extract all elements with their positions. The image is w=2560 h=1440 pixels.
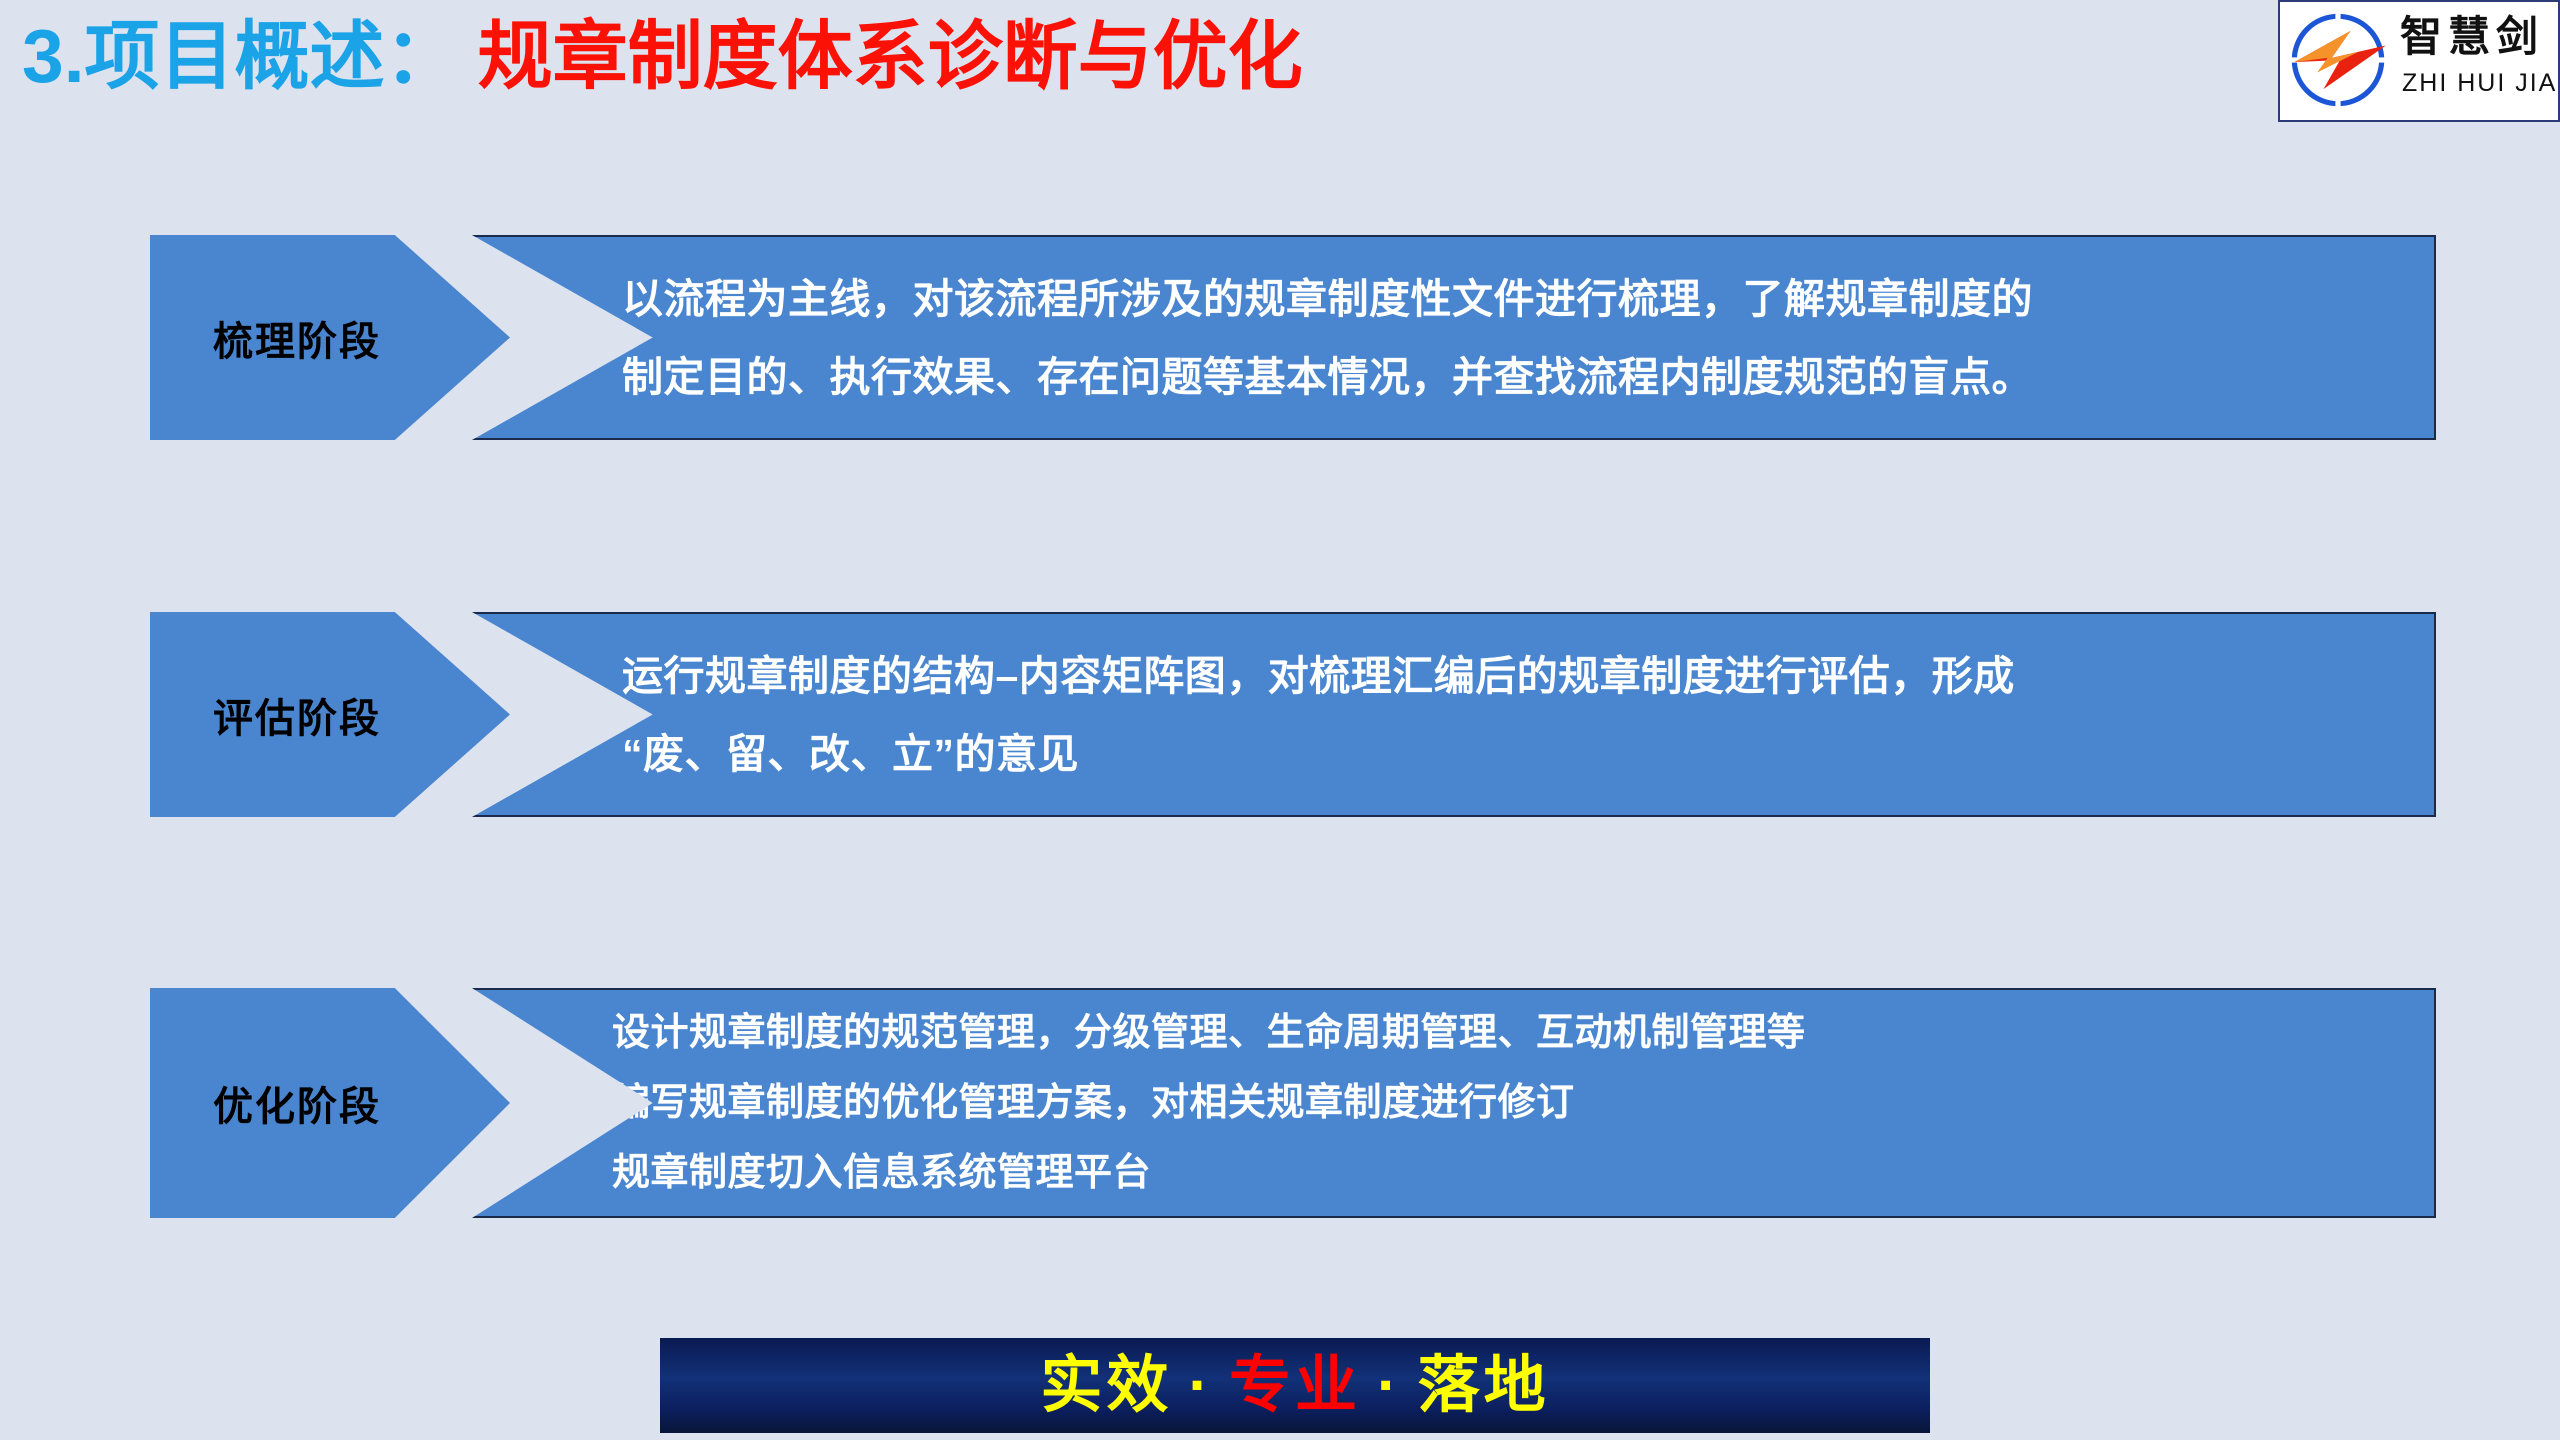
stage-body-line: 规章制度切入信息系统管理平台 [612, 1138, 2410, 1208]
slogan-banner: 实效·专业·落地 [660, 1338, 1930, 1433]
slogan-text: 实效·专业·落地 [1040, 1347, 1549, 1425]
stage-label-shape[interactable]: 优化阶段 [150, 988, 510, 1218]
stage-body-line: 以流程为主线，对该流程所涉及的规章制度性文件进行梳理，了解规章制度的 [622, 260, 2410, 338]
stage-label-text: 梳理阶段 [182, 309, 412, 367]
stage-label-text: 优化阶段 [182, 1074, 412, 1132]
stage-label-text: 评估阶段 [182, 686, 412, 744]
slogan-word-2: 专业 [1229, 1351, 1361, 1420]
stage-content-box[interactable]: 设计规章制度的规范管理，分级管理、生命周期管理、互动机制管理等 编写规章制度的优… [472, 988, 2436, 1218]
stage-label-shape[interactable]: 评估阶段 [150, 612, 510, 817]
stage-row: 优化阶段 设计规章制度的规范管理，分级管理、生命周期管理、互动机制管理等 编写规… [0, 988, 2560, 1218]
stage-label-shape[interactable]: 梳理阶段 [150, 235, 510, 440]
slogan-separator: · [1377, 1351, 1402, 1420]
page-title-main: 规章制度体系诊断与优化 [478, 14, 1303, 98]
slogan-separator: · [1188, 1351, 1213, 1420]
slogan-word-3: 落地 [1418, 1351, 1550, 1420]
slogan-word-1: 实效 [1040, 1351, 1172, 1420]
logo-text-pinyin: ZHI HUI JIAN [2402, 68, 2560, 98]
stage-content-box[interactable]: 运行规章制度的结构–内容矩阵图，对梳理汇编后的规章制度进行评估，形成 “废、留、… [472, 612, 2436, 817]
logo-text-chinese: 智慧剑 [2400, 14, 2544, 62]
stage-body-line: 运行规章制度的结构–内容矩阵图，对梳理汇编后的规章制度进行评估，形成 [622, 637, 2410, 715]
stage-body-line: “废、留、改、立”的意见 [622, 715, 2410, 793]
stage-body-line: 编写规章制度的优化管理方案，对相关规章制度进行修订 [612, 1068, 2410, 1138]
stage-row: 梳理阶段 以流程为主线，对该流程所涉及的规章制度性文件进行梳理，了解规章制度的 … [0, 235, 2560, 440]
stage-row: 评估阶段 运行规章制度的结构–内容矩阵图，对梳理汇编后的规章制度进行评估，形成 … [0, 612, 2560, 817]
slide-header: 3.项目概述：规章制度体系诊断与优化 智慧剑 ZHI HUI JIAN [0, 0, 2560, 128]
lightning-bolt-in-circle-icon [2286, 8, 2390, 112]
stage-body-line: 制定目的、执行效果、存在问题等基本情况，并查找流程内制度规范的盲点。 [622, 338, 2410, 416]
stage-body-line: 设计规章制度的规范管理，分级管理、生命周期管理、互动机制管理等 [612, 998, 2410, 1068]
company-logo: 智慧剑 ZHI HUI JIAN [2278, 0, 2560, 122]
stage-content-box[interactable]: 以流程为主线，对该流程所涉及的规章制度性文件进行梳理，了解规章制度的 制定目的、… [472, 235, 2436, 440]
page-title: 3.项目概述：规章制度体系诊断与优化 [22, 2, 1303, 110]
page-title-prefix: 3.项目概述： [22, 14, 460, 98]
